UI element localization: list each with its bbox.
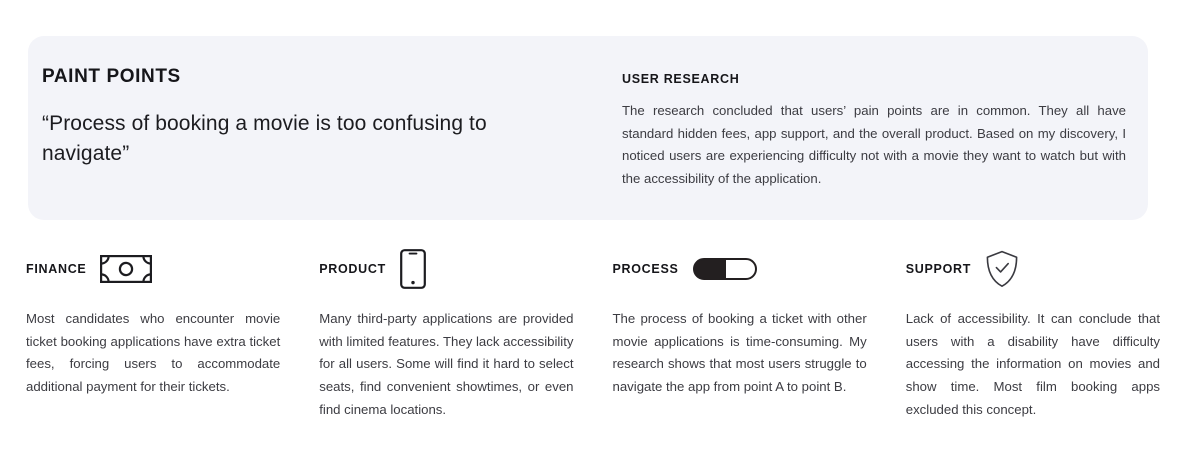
category-support: SUPPORT Lack of accessibility. It can co… [906, 252, 1160, 422]
category-header: FINANCE [26, 252, 280, 286]
pain-point-categories: FINANCE Most candidates who encounter mo… [26, 252, 1160, 422]
page-title: PAINT POINTS [42, 66, 512, 89]
category-body-product: Many third-party applications are provid… [319, 308, 573, 422]
user-research-title: USER RESEARCH [622, 72, 1126, 86]
category-process: PROCESS The process of booking a ticket … [613, 252, 867, 422]
category-product: PRODUCT Many third-party applications ar… [319, 252, 573, 422]
user-research-body: The research concluded that users’ pain … [622, 100, 1126, 191]
category-body-process: The process of booking a ticket with oth… [613, 308, 867, 399]
pain-points-panel: PAINT POINTS “Process of booking a movie… [28, 36, 1148, 220]
category-body-finance: Most candidates who encounter movie tick… [26, 308, 280, 399]
category-title-support: SUPPORT [906, 262, 971, 276]
category-title-product: PRODUCT [319, 262, 386, 276]
category-header: PRODUCT [319, 252, 573, 286]
toggle-switch-icon [693, 258, 757, 280]
pain-point-quote: “Process of booking a movie is too confu… [42, 109, 512, 169]
smartphone-icon [400, 249, 426, 289]
panel-left-section: PAINT POINTS “Process of booking a movie… [42, 66, 512, 168]
category-body-support: Lack of accessibility. It can conclude t… [906, 308, 1160, 422]
shield-check-icon [985, 250, 1019, 288]
category-title-finance: FINANCE [26, 262, 86, 276]
banknote-icon [100, 255, 152, 283]
category-header: PROCESS [613, 252, 867, 286]
category-title-process: PROCESS [613, 262, 679, 276]
panel-right-section: USER RESEARCH The research concluded tha… [622, 72, 1126, 191]
category-header: SUPPORT [906, 252, 1160, 286]
category-finance: FINANCE Most candidates who encounter mo… [26, 252, 280, 422]
